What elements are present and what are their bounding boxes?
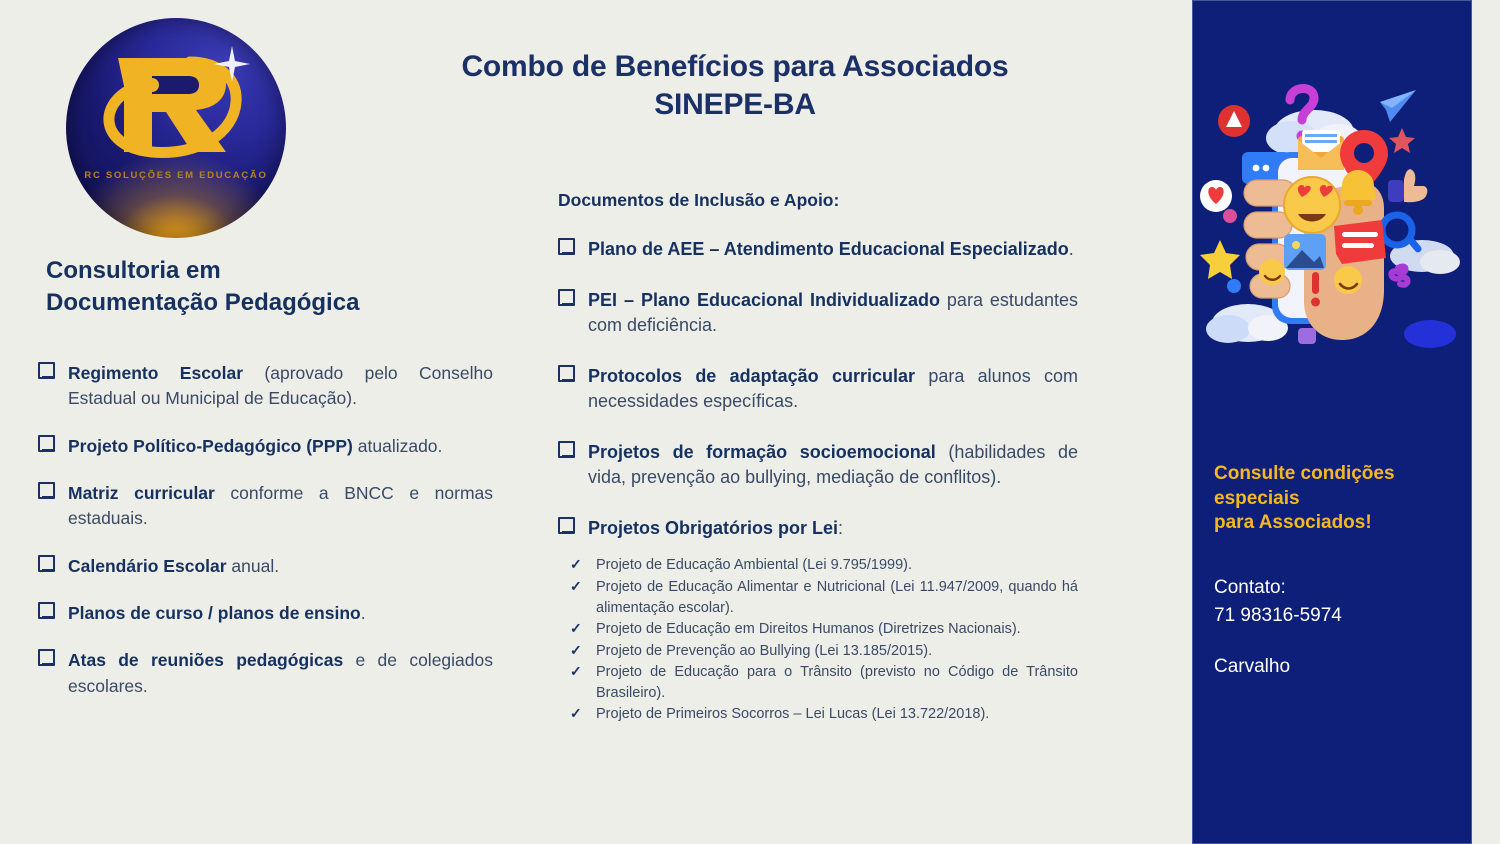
- contact-person-name: Carvalho: [1214, 656, 1458, 678]
- logo-tagline: RC SOLUÇÕES EM EDUCAÇÃO: [66, 170, 286, 181]
- contact-block: Contato: 71 98316-5974: [1214, 574, 1458, 629]
- cta-line-1: Consulte condições: [1214, 462, 1458, 487]
- logo-circle: RC SOLUÇÕES EM EDUCAÇÃO: [66, 18, 286, 238]
- law-project-label: Projeto de Educação Alimentar e Nutricio…: [596, 579, 1078, 616]
- square-bullet-icon: [558, 441, 575, 458]
- middle-column: Documentos de Inclusão e Apoio: Plano de…: [558, 190, 1078, 726]
- document-list-item-detail: atualizado.: [353, 436, 443, 456]
- page-title-line1: Combo de Benefícios para Associados: [395, 48, 1075, 86]
- document-list-item: Regimento Escolar (aprovado pelo Conselh…: [38, 361, 493, 412]
- square-bullet-icon: [558, 238, 575, 255]
- page-title: Combo de Benefícios para Associados SINE…: [395, 48, 1075, 124]
- document-list-item: Atas de reuniões pedagógicas e de colegi…: [38, 648, 493, 699]
- inclusion-list-item: Projetos de formação socioemocional (hab…: [558, 440, 1078, 491]
- inclusion-list-item-detail: .: [1069, 239, 1074, 259]
- law-project-label: Projeto de Educação Ambiental (Lei 9.795…: [596, 557, 912, 573]
- law-project-label: Projeto de Prevenção ao Bullying (Lei 13…: [596, 643, 932, 659]
- document-list-item: Projeto Político-Pedagógico (PPP) atuali…: [38, 434, 493, 459]
- law-project-item: ✓Projeto de Educação para o Trânsito (pr…: [564, 662, 1078, 703]
- inclusion-list-item: Protocolos de adaptação curricular para …: [558, 364, 1078, 415]
- square-bullet-icon: [558, 365, 575, 382]
- inclusion-document-list: Plano de AEE – Atendimento Educacional E…: [558, 237, 1078, 541]
- square-bullet-icon: [558, 289, 575, 306]
- middle-column-title: Documentos de Inclusão e Apoio:: [558, 190, 1078, 211]
- left-document-list: Regimento Escolar (aprovado pelo Conselh…: [38, 361, 493, 699]
- contact-label: Contato:: [1214, 574, 1458, 602]
- document-list-item: Matriz curricular conforme a BNCC e norm…: [38, 481, 493, 532]
- document-list-item-label: Planos de curso / planos de ensino: [68, 603, 361, 623]
- law-project-item: ✓Projeto de Primeiros Socorros – Lei Luc…: [564, 704, 1078, 725]
- sparkle-icon: [212, 44, 252, 84]
- left-column: Consultoria em Documentação Pedagógica R…: [38, 255, 493, 699]
- square-bullet-icon: [38, 649, 55, 666]
- square-bullet-icon: [38, 482, 55, 499]
- document-list-item-label: Projeto Político-Pedagógico (PPP): [68, 436, 353, 456]
- law-project-item: ✓Projeto de Educação Alimentar e Nutrici…: [564, 577, 1078, 618]
- law-project-item: ✓Projeto de Educação Ambiental (Lei 9.79…: [564, 555, 1078, 576]
- inclusion-list-item-label: Projetos de formação socioemocional: [588, 442, 936, 462]
- rc-monogram-icon: [66, 40, 286, 170]
- inclusion-list-item-label: Projetos Obrigatórios por Lei: [588, 518, 838, 538]
- law-project-label: Projeto de Educação em Direitos Humanos …: [596, 621, 1021, 637]
- document-list-item-label: Matriz curricular: [68, 483, 215, 503]
- law-project-label: Projeto de Primeiros Socorros – Lei Luca…: [596, 706, 989, 722]
- inclusion-list-item-detail: :: [838, 518, 843, 538]
- check-icon: ✓: [570, 641, 582, 661]
- law-project-label: Projeto de Educação para o Trânsito (pre…: [596, 664, 1078, 701]
- document-list-item-label: Atas de reuniões pedagógicas: [68, 650, 343, 670]
- left-column-title: Consultoria em Documentação Pedagógica: [46, 255, 493, 319]
- document-list-item-label: Calendário Escolar: [68, 556, 227, 576]
- inclusion-list-item-label: PEI – Plano Educacional Individualizado: [588, 290, 940, 310]
- cta-text: Consulte condições especiais para Associ…: [1214, 462, 1458, 536]
- square-bullet-icon: [38, 435, 55, 452]
- square-bullet-icon: [558, 517, 575, 534]
- contact-phone[interactable]: 71 98316-5974: [1214, 602, 1458, 630]
- check-icon: ✓: [570, 662, 582, 682]
- document-list-item-detail: .: [361, 603, 366, 623]
- square-bullet-icon: [38, 555, 55, 572]
- document-list-item: Planos de curso / planos de ensino.: [38, 601, 493, 626]
- cta-line-2: especiais: [1214, 487, 1458, 512]
- cta-line-3: para Associados!: [1214, 511, 1458, 536]
- flyer-canvas: RC SOLUÇÕES EM EDUCAÇÃO Combo de Benefíc…: [0, 0, 1500, 844]
- law-project-item: ✓Projeto de Prevenção ao Bullying (Lei 1…: [564, 641, 1078, 662]
- square-bullet-icon: [38, 362, 55, 379]
- company-logo: RC SOLUÇÕES EM EDUCAÇÃO: [66, 18, 286, 238]
- check-icon: ✓: [570, 619, 582, 639]
- document-list-item: Calendário Escolar anual.: [38, 554, 493, 579]
- contact-panel: Consulte condições especiais para Associ…: [1192, 0, 1472, 844]
- check-icon: ✓: [570, 704, 582, 724]
- left-title-line2: Documentação Pedagógica: [46, 287, 493, 319]
- inclusion-list-item: Plano de AEE – Atendimento Educacional E…: [558, 237, 1078, 263]
- document-list-item-label: Regimento Escolar: [68, 363, 243, 383]
- page-title-line2: SINEPE-BA: [395, 86, 1075, 124]
- left-title-line1: Consultoria em: [46, 255, 493, 287]
- hand-holding-phone-illustration-icon: [1192, 40, 1472, 380]
- check-icon: ✓: [570, 555, 582, 575]
- inclusion-list-item-label: Plano de AEE – Atendimento Educacional E…: [588, 239, 1069, 259]
- mandatory-projects-list: ✓Projeto de Educação Ambiental (Lei 9.79…: [564, 555, 1078, 725]
- inclusion-list-item: PEI – Plano Educacional Individualizado …: [558, 288, 1078, 339]
- document-list-item-detail: anual.: [227, 556, 280, 576]
- check-icon: ✓: [570, 577, 582, 597]
- square-bullet-icon: [38, 602, 55, 619]
- inclusion-list-item-label: Protocolos de adaptação curricular: [588, 366, 915, 386]
- inclusion-list-item: Projetos Obrigatórios por Lei:: [558, 516, 1078, 542]
- law-project-item: ✓Projeto de Educação em Direitos Humanos…: [564, 619, 1078, 640]
